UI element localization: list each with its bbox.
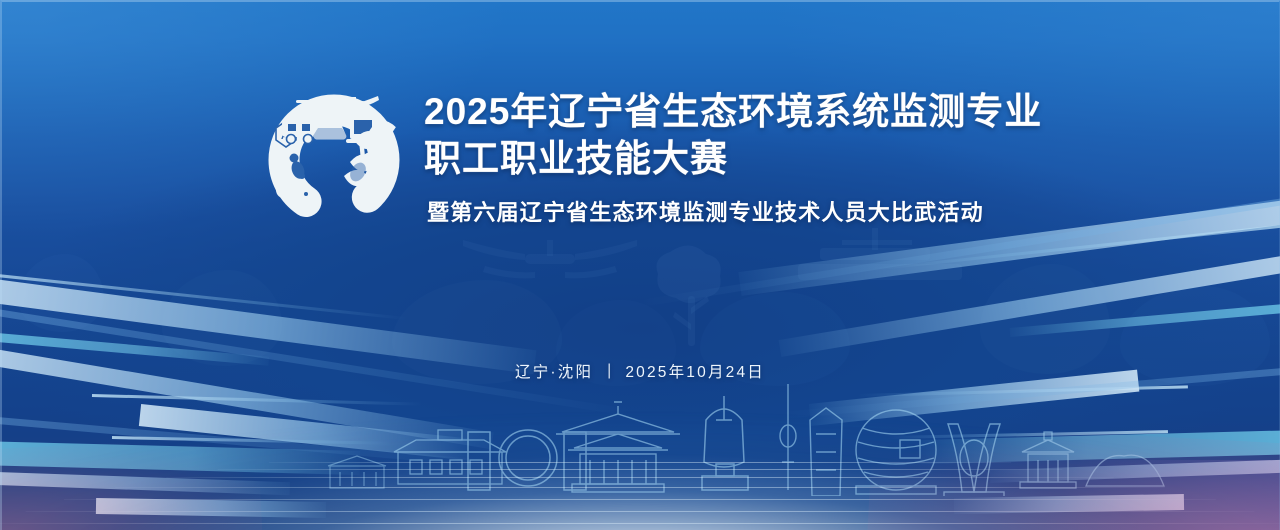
- main-title-line-1: 2025年辽宁省生态环境系统监测专业: [424, 88, 1042, 135]
- event-location: 辽宁·沈阳: [515, 360, 593, 382]
- poster-canvas: AI: [0, 0, 1280, 530]
- poster-content: AI: [0, 0, 1280, 530]
- poster-header: AI: [258, 84, 1042, 236]
- event-date: 2025年10月24日: [625, 360, 765, 382]
- event-meta: 辽宁·沈阳 | 2025年10月24日: [0, 360, 1280, 382]
- eco-monitoring-ring-logo: AI: [258, 84, 410, 236]
- main-title-line-2: 职工职业技能大赛: [424, 135, 1042, 182]
- title-block: 2025年辽宁省生态环境系统监测专业 职工职业技能大赛 暨第六届辽宁省生态环境监…: [424, 84, 1042, 230]
- subtitle: 暨第六届辽宁省生态环境监测专业技术人员大比武活动: [427, 196, 1042, 230]
- meta-separator: |: [607, 362, 611, 380]
